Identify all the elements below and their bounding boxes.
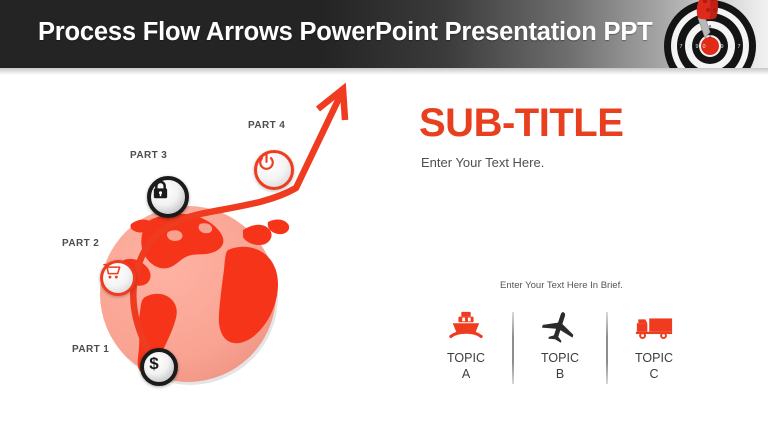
svg-text:9: 9 xyxy=(720,44,723,50)
part-1-label: PART 1 xyxy=(72,344,109,355)
subtitle-heading: SUB-TITLE xyxy=(419,101,623,146)
part-2-label: PART 2 xyxy=(62,238,99,249)
airplane-icon xyxy=(541,308,579,346)
page-title: Process Flow Arrows PowerPoint Presentat… xyxy=(38,18,653,47)
svg-text:8: 8 xyxy=(687,44,690,50)
svg-text:7: 7 xyxy=(737,44,740,50)
svg-text:6: 6 xyxy=(671,44,674,50)
part-3-label: PART 3 xyxy=(130,150,167,161)
topic-a-label: TOPIC A xyxy=(447,351,485,382)
topics-row: TOPIC A TOPIC B xyxy=(420,308,750,394)
topic-b[interactable]: TOPIC B xyxy=(514,308,606,382)
svg-text:7: 7 xyxy=(679,44,682,50)
svg-text:0: 0 xyxy=(702,44,705,50)
topic-b-label-line1: TOPIC xyxy=(541,351,579,367)
dartboard-target-icon: 67 89 0 98 76 789 xyxy=(648,0,766,68)
topic-c-label: TOPIC C xyxy=(635,351,673,382)
topic-b-label: TOPIC B xyxy=(541,351,579,382)
svg-text:9: 9 xyxy=(709,34,712,40)
topic-a-label-line1: TOPIC xyxy=(447,351,485,367)
step-node-part-2[interactable] xyxy=(100,260,136,296)
step-node-part-4[interactable] xyxy=(254,150,294,190)
svg-text:$: $ xyxy=(149,354,159,373)
diagram-canvas xyxy=(0,72,400,432)
svg-text:9: 9 xyxy=(695,44,698,50)
svg-text:6: 6 xyxy=(745,44,748,50)
brief-text: Enter Your Text Here In Brief. xyxy=(500,280,623,291)
page-header: Process Flow Arrows PowerPoint Presentat… xyxy=(0,0,768,68)
topic-c[interactable]: TOPIC C xyxy=(608,308,700,382)
truck-icon xyxy=(634,308,674,346)
ship-icon xyxy=(448,308,484,346)
part-4-label: PART 4 xyxy=(248,120,285,131)
svg-text:8: 8 xyxy=(729,44,732,50)
process-flow-diagram: PART 1 PART 2 PART 3 PART 4 $ xyxy=(0,72,400,432)
topic-a-label-line2: A xyxy=(447,367,485,383)
step-node-part-3[interactable] xyxy=(147,176,189,218)
step-node-part-1[interactable]: $ xyxy=(140,348,178,386)
subtitle-description: Enter Your Text Here. xyxy=(421,155,544,170)
topic-c-label-line2: C xyxy=(635,367,673,383)
topic-b-label-line2: B xyxy=(541,367,579,383)
globe-icon xyxy=(100,206,289,385)
topic-c-label-line1: TOPIC xyxy=(635,351,673,367)
topic-a[interactable]: TOPIC A xyxy=(420,308,512,382)
